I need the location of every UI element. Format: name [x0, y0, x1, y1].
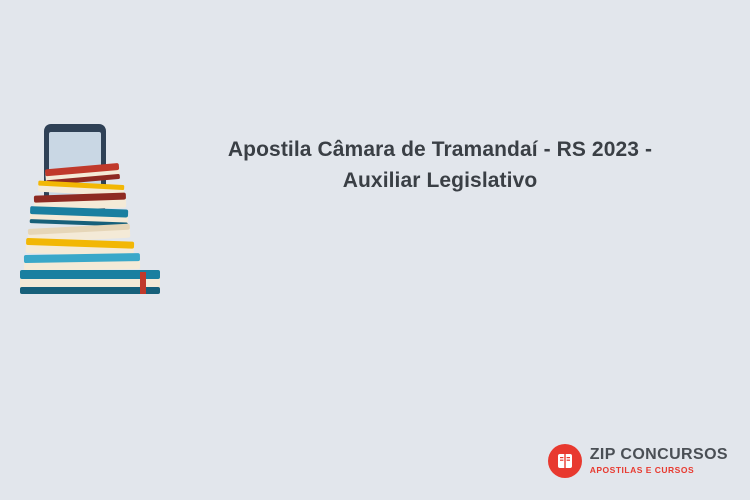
brand-name: ZIP CONCURSOS	[590, 447, 728, 463]
brand-logo-text: ZIP CONCURSOS APOSTILAS E CURSOS	[590, 447, 728, 475]
book-reader-glyph	[555, 451, 575, 471]
stack-of-books-and-tablet-illustration	[14, 120, 174, 320]
brand-tagline: APOSTILAS E CURSOS	[590, 466, 728, 475]
brand-logo[interactable]: ZIP CONCURSOS APOSTILAS E CURSOS	[548, 444, 728, 478]
product-title: Apostila Câmara de Tramandaí - RS 2023 -…	[190, 134, 690, 196]
product-banner-card: Apostila Câmara de Tramandaí - RS 2023 -…	[0, 0, 750, 500]
illustration-svg	[14, 120, 174, 320]
book-reader-icon	[548, 444, 582, 478]
